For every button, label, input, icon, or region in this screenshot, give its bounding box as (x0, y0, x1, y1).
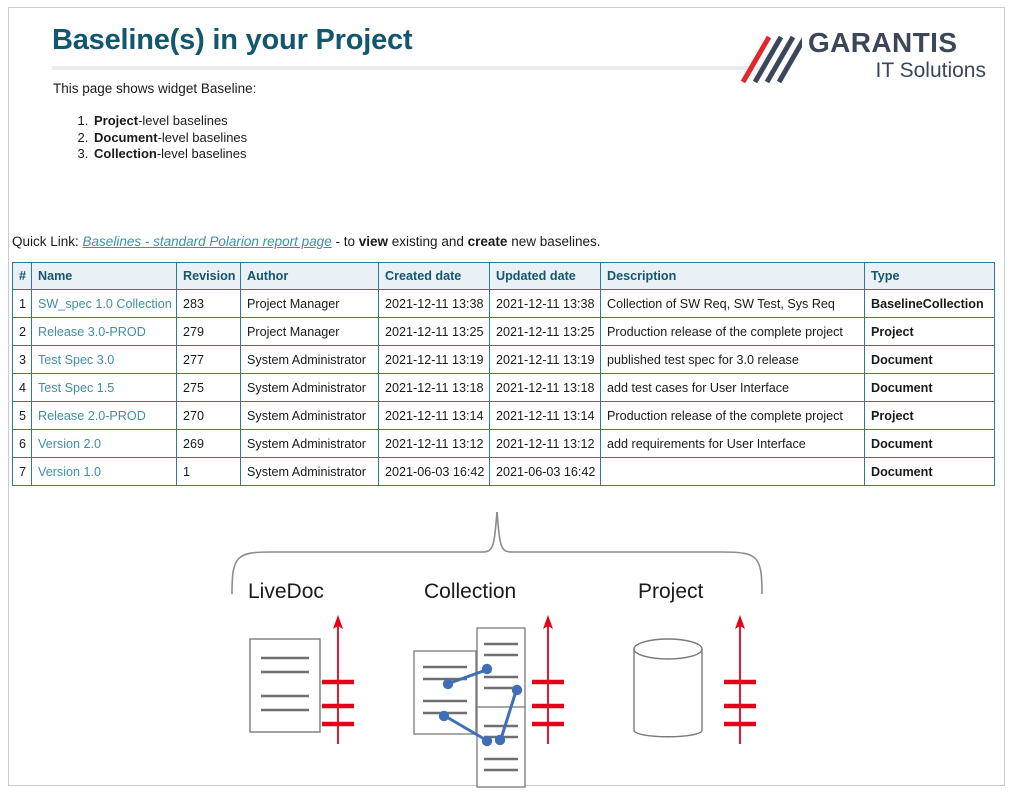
cell-author: System Administrator (241, 374, 379, 402)
baselines-table: # Name Revision Author Created date Upda… (12, 262, 995, 486)
cell-updated: 2021-12-11 13:38 (490, 290, 601, 318)
column-header-type[interactable]: Type (865, 263, 995, 290)
cell-name[interactable]: SW_spec 1.0 Collection (32, 290, 177, 318)
cell-description: add test cases for User Interface (601, 374, 865, 402)
cell-revision: 277 (177, 346, 241, 374)
cell-author: Project Manager (241, 318, 379, 346)
cell-updated: 2021-12-11 13:14 (490, 402, 601, 430)
page-title: Baseline(s) in your Project (52, 24, 412, 57)
quick-link-suffix: new baselines. (511, 234, 600, 249)
column-header-updated[interactable]: Updated date (490, 263, 601, 290)
cell-index: 5 (13, 402, 32, 430)
table-row: 3 Test Spec 3.0 277 System Administrator… (13, 346, 995, 374)
table-row: 5 Release 2.0-PROD 270 System Administra… (13, 402, 995, 430)
diagram-label-collection: Collection (424, 580, 516, 604)
livedoc-baseline-axis-icon (322, 615, 354, 744)
baselines-table-wrapper: # Name Revision Author Created date Upda… (12, 262, 994, 486)
cell-revision: 270 (177, 402, 241, 430)
cell-created: 2021-12-11 13:19 (379, 346, 490, 374)
diagram-label-livedoc: LiveDoc (248, 580, 324, 604)
table-header-row: # Name Revision Author Created date Upda… (13, 263, 995, 290)
cell-type: Document (865, 458, 995, 486)
quick-link-anchor[interactable]: Baselines - standard Polarion report pag… (83, 234, 332, 249)
intro-text: This page shows widget Baseline: (53, 81, 256, 96)
cell-revision: 279 (177, 318, 241, 346)
cell-type: Document (865, 430, 995, 458)
cell-description: Collection of SW Req, SW Test, Sys Req (601, 290, 865, 318)
table-row: 7 Version 1.0 1 System Administrator 202… (13, 458, 995, 486)
quick-link-bold-view: view (359, 234, 388, 249)
list-item-rest: -level baselines (138, 113, 228, 128)
cell-name[interactable]: Test Spec 1.5 (32, 374, 177, 402)
list-item-rest: -level baselines (157, 146, 247, 161)
list-item-bold: Project (94, 113, 138, 128)
list-item: Project-level baselines (92, 113, 247, 130)
cell-index: 6 (13, 430, 32, 458)
cell-revision: 275 (177, 374, 241, 402)
cell-index: 1 (13, 290, 32, 318)
cell-type: BaselineCollection (865, 290, 995, 318)
diagram-canvas (0, 494, 1013, 794)
baseline-link[interactable]: Release 2.0-PROD (38, 409, 146, 423)
cell-revision: 283 (177, 290, 241, 318)
cell-type: Project (865, 402, 995, 430)
cell-description: Production release of the complete proje… (601, 402, 865, 430)
column-header-name[interactable]: Name (32, 263, 177, 290)
cell-name[interactable]: Version 1.0 (32, 458, 177, 486)
baseline-link[interactable]: SW_spec 1.0 Collection (38, 297, 172, 311)
cell-type: Project (865, 318, 995, 346)
cell-updated: 2021-12-11 13:18 (490, 374, 601, 402)
baseline-level-list: Project-level baselines Document-level b… (70, 113, 247, 163)
column-header-description[interactable]: Description (601, 263, 865, 290)
cell-author: System Administrator (241, 458, 379, 486)
cell-created: 2021-06-03 16:42 (379, 458, 490, 486)
collection-icon (414, 628, 525, 787)
cell-name[interactable]: Version 2.0 (32, 430, 177, 458)
column-header-created[interactable]: Created date (379, 263, 490, 290)
table-body: 1 SW_spec 1.0 Collection 283 Project Man… (13, 290, 995, 486)
cell-updated: 2021-12-11 13:19 (490, 346, 601, 374)
cell-author: System Administrator (241, 346, 379, 374)
table-row: 2 Release 3.0-PROD 279 Project Manager 2… (13, 318, 995, 346)
list-item-bold: Document (94, 130, 158, 145)
cell-index: 4 (13, 374, 32, 402)
list-item-bold: Collection (94, 146, 157, 161)
quick-link-line: Quick Link: Baselines - standard Polario… (12, 234, 601, 249)
baseline-types-diagram: LiveDoc Collection Project (0, 494, 1013, 794)
column-header-revision[interactable]: Revision (177, 263, 241, 290)
livedoc-icon (250, 639, 320, 732)
cell-name[interactable]: Release 3.0-PROD (32, 318, 177, 346)
list-item: Document-level baselines (92, 130, 247, 147)
cell-description: published test spec for 3.0 release (601, 346, 865, 374)
cell-type: Document (865, 346, 995, 374)
cell-created: 2021-12-11 13:25 (379, 318, 490, 346)
table-row: 4 Test Spec 1.5 275 System Administrator… (13, 374, 995, 402)
cell-index: 7 (13, 458, 32, 486)
cell-description: add requirements for User Interface (601, 430, 865, 458)
cell-revision: 1 (177, 458, 241, 486)
cell-updated: 2021-12-11 13:25 (490, 318, 601, 346)
project-baseline-axis-icon (724, 615, 756, 744)
collection-baseline-axis-icon (532, 615, 564, 744)
cell-description (601, 458, 865, 486)
project-cylinder-icon (634, 639, 702, 737)
quick-link-mid-1: - to (335, 234, 355, 249)
logo-company-name: GARANTIS (808, 28, 988, 58)
baseline-link[interactable]: Release 3.0-PROD (38, 325, 146, 339)
column-header-index[interactable]: # (13, 263, 32, 290)
cell-author: System Administrator (241, 402, 379, 430)
baseline-link[interactable]: Version 2.0 (38, 437, 101, 451)
cell-created: 2021-12-11 13:38 (379, 290, 490, 318)
baseline-link[interactable]: Test Spec 1.5 (38, 381, 114, 395)
quick-link-mid-2: existing and (392, 234, 464, 249)
cell-created: 2021-12-11 13:12 (379, 430, 490, 458)
cell-author: System Administrator (241, 430, 379, 458)
list-item-rest: -level baselines (158, 130, 248, 145)
cell-revision: 269 (177, 430, 241, 458)
cell-index: 3 (13, 346, 32, 374)
quick-link-prefix: Quick Link: (12, 234, 79, 249)
table-row: 1 SW_spec 1.0 Collection 283 Project Man… (13, 290, 995, 318)
cell-description: Production release of the complete proje… (601, 318, 865, 346)
cell-updated: 2021-06-03 16:42 (490, 458, 601, 486)
quick-link-bold-create: create (468, 234, 508, 249)
report-page: Baseline(s) in your Project GARANTIS IT … (0, 0, 1013, 794)
diagram-label-project: Project (638, 580, 703, 604)
cell-name[interactable]: Release 2.0-PROD (32, 402, 177, 430)
logo-tagline: IT Solutions (808, 58, 988, 83)
cell-created: 2021-12-11 13:14 (379, 402, 490, 430)
column-header-author[interactable]: Author (241, 263, 379, 290)
cell-index: 2 (13, 318, 32, 346)
baseline-link[interactable]: Version 1.0 (38, 465, 101, 479)
garantis-logo: GARANTIS IT Solutions (736, 28, 986, 90)
cell-updated: 2021-12-11 13:12 (490, 430, 601, 458)
list-item: Collection-level baselines (92, 146, 247, 163)
cell-author: Project Manager (241, 290, 379, 318)
cell-created: 2021-12-11 13:18 (379, 374, 490, 402)
baseline-link[interactable]: Test Spec 3.0 (38, 353, 114, 367)
logo-stripes-icon (736, 30, 802, 86)
cell-type: Document (865, 374, 995, 402)
cell-name[interactable]: Test Spec 3.0 (32, 346, 177, 374)
title-divider (52, 66, 760, 70)
table-row: 6 Version 2.0 269 System Administrator 2… (13, 430, 995, 458)
